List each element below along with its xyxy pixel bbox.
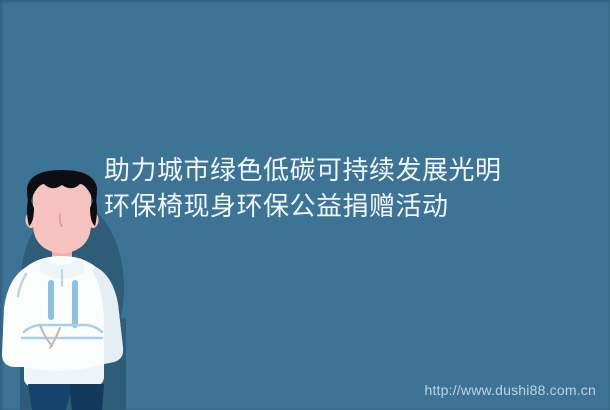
site-watermark-url: http://www.dushi88.com.cn <box>424 382 596 398</box>
drawstring-right <box>72 280 78 328</box>
headline: 助力城市绿色低碳可持续发展光明 环保椅现身环保公益捐赠活动 <box>104 152 594 224</box>
article-thumbnail-banner: 助力城市绿色低碳可持续发展光明 环保椅现身环保公益捐赠活动 http://www… <box>0 0 610 410</box>
headline-line-1: 助力城市绿色低碳可持续发展光明 <box>104 152 594 188</box>
face <box>33 176 91 254</box>
drawstring-left <box>48 280 54 320</box>
headline-line-2: 环保椅现身环保公益捐赠活动 <box>104 188 594 224</box>
pants-shade <box>70 384 104 410</box>
